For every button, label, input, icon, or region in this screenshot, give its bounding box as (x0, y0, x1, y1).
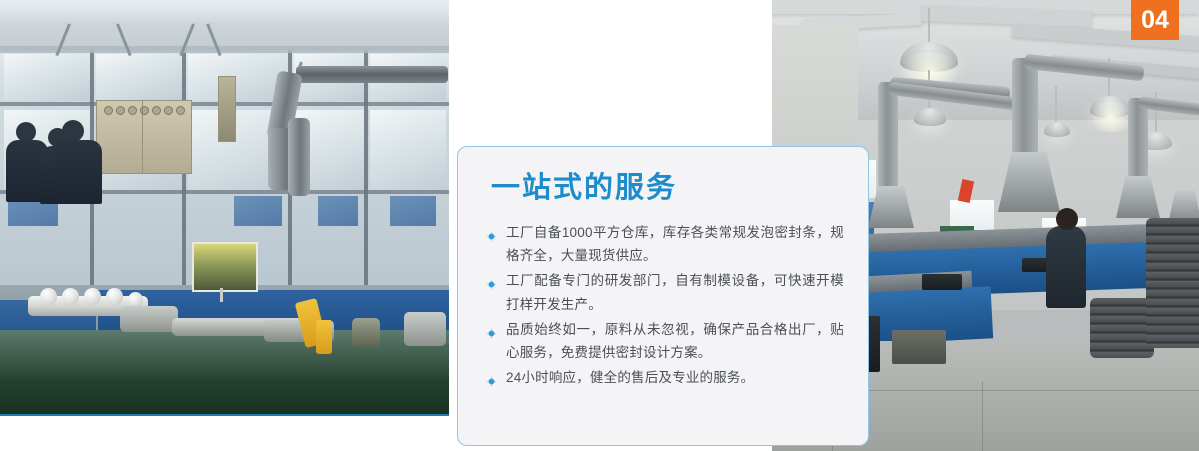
cabinet-knob (128, 106, 137, 115)
cooling-roller (62, 288, 79, 305)
exhaust-duct-vertical (1012, 58, 1038, 162)
pendant-lamp (1044, 122, 1070, 137)
window-mullion (364, 50, 368, 285)
collection-bin (352, 318, 380, 348)
list-item-text: 工厂自备1000平方仓库，库存各类常规发泡密封条，规格齐全，大量现货供应。 (506, 225, 844, 263)
operator-display-panel (192, 242, 258, 292)
line-module (922, 274, 962, 290)
cabinet-knob (152, 106, 161, 115)
list-item: 工厂自备1000平方仓库，库存各类常规发泡密封条，规格齐全，大量现货供应。 (485, 221, 844, 267)
floor-joint-line (982, 381, 983, 451)
section-number-badge: 04 (1131, 0, 1179, 40)
card-title: 一站式的服务 (491, 173, 844, 205)
diamond-bullet-icon (485, 275, 498, 288)
storage-crate (892, 330, 946, 364)
factory-extrusion-line-photo (0, 0, 449, 416)
list-item-text: 24小时响应，健全的售后及专业的服务。 (506, 370, 754, 385)
machine-panel (404, 312, 446, 346)
window-pane (4, 54, 90, 101)
lamp-cord (1055, 86, 1057, 126)
exhaust-duct-vertical (288, 118, 310, 196)
cable-drum (1146, 218, 1199, 348)
window-pane (370, 110, 446, 190)
diamond-bullet-icon (485, 372, 498, 385)
promo-banner: 04 一站式的服务 工厂自备1000平方仓库，库存各类常规发泡密封条，规格齐全，… (0, 0, 1199, 451)
ceiling-upper (0, 0, 449, 22)
window-pane-blue (390, 196, 436, 226)
window-pane (96, 54, 182, 101)
diamond-bullet-icon (485, 227, 498, 240)
list-item: 品质始终如一，原料从未忽视，确保产品合格出厂，贴心服务，免费提供密封设计方案。 (485, 318, 844, 364)
list-item-text: 工厂配备专门的研发部门，自有制模设备，可快速开模打样开发生产。 (506, 273, 844, 311)
panel-stand (220, 288, 223, 302)
cabinet-knob (176, 106, 185, 115)
cooling-roller (106, 288, 123, 305)
cabinet-knob (140, 106, 149, 115)
list-item: 工厂配备专门的研发部门，自有制模设备，可快速开模打样开发生产。 (485, 269, 844, 315)
pendant-lamp (914, 108, 946, 126)
worker-body (1046, 226, 1086, 308)
cabinet-knob (116, 106, 125, 115)
cooling-roller (84, 288, 101, 305)
cabinet-knob (104, 106, 113, 115)
diamond-bullet-icon (485, 324, 498, 337)
list-item-text: 品质始终如一，原料从未忽视，确保产品合格出厂，贴心服务，免费提供密封设计方案。 (506, 322, 844, 360)
factory-floor (0, 330, 449, 416)
worker-head (62, 120, 84, 142)
list-item: 24小时响应，健全的售后及专业的服务。 (485, 366, 844, 389)
wall-panel (218, 76, 236, 142)
cooling-roller (40, 288, 57, 305)
cable-drum (1090, 298, 1154, 358)
cooling-roller (128, 292, 143, 307)
section-number-text: 04 (1141, 8, 1169, 33)
worker-head (1056, 208, 1078, 230)
exhaust-duct-horizontal (296, 66, 448, 83)
service-info-card: 一站式的服务 工厂自备1000平方仓库，库存各类常规发泡密封条，规格齐全，大量现… (457, 146, 869, 446)
structural-beam (0, 46, 449, 53)
window-pane-blue (234, 196, 282, 226)
exhaust-duct-vertical (1128, 98, 1148, 180)
exhaust-duct-vertical (878, 82, 898, 192)
service-bullet-list: 工厂自备1000平方仓库，库存各类常规发泡密封条，规格齐全，大量现货供应。 工厂… (485, 221, 844, 390)
bottom-white-strip (0, 416, 449, 451)
worker-body (54, 140, 102, 204)
extruder-gearbox (120, 306, 178, 332)
yellow-robot-arm (316, 320, 332, 354)
cabinet-knob (164, 106, 173, 115)
window-pane-blue (318, 196, 358, 226)
worker-head (16, 122, 36, 142)
